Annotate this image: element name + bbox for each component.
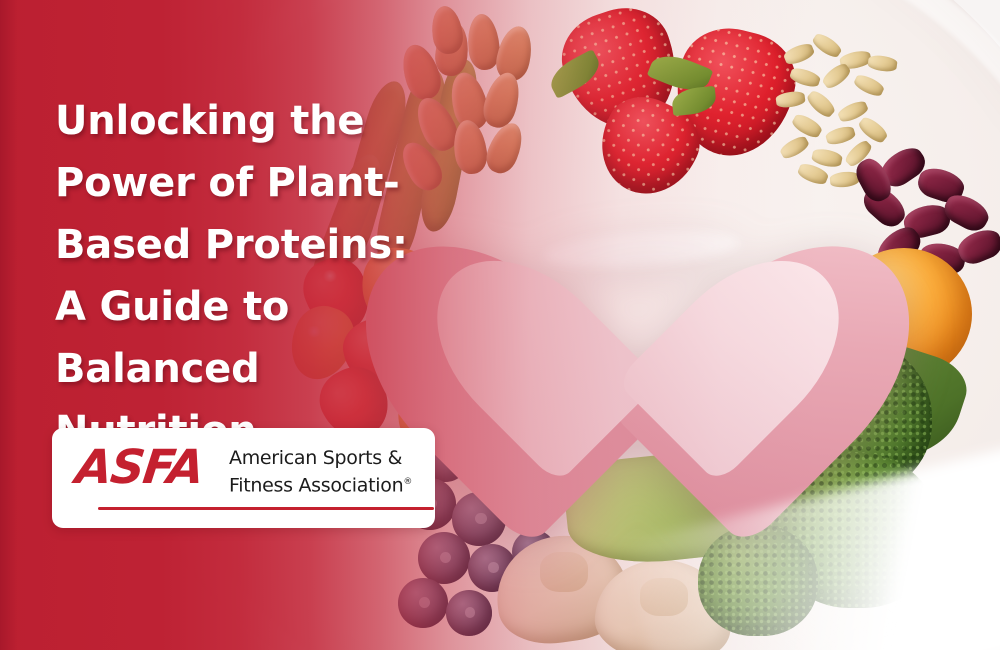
asfa-logo-card[interactable]: ASFA American Sports & Fitness Associati… [52, 428, 435, 528]
registered-trademark-icon: ® [403, 477, 412, 487]
asfa-full-name: American Sports & Fitness Association® [229, 446, 412, 497]
marketing-banner: Unlocking the Power of Plant- Based Prot… [0, 0, 1000, 650]
banner-content: Unlocking the Power of Plant- Based Prot… [0, 0, 1000, 650]
banner-title: Unlocking the Power of Plant- Based Prot… [55, 90, 455, 462]
asfa-logo: ASFA American Sports & Fitness Associati… [76, 445, 419, 514]
asfa-name-line-2: Fitness Association [229, 474, 403, 496]
asfa-wordmark: ASFA [73, 443, 206, 493]
asfa-underline-rule [98, 507, 434, 510]
asfa-name-line-1: American Sports & [229, 447, 402, 469]
